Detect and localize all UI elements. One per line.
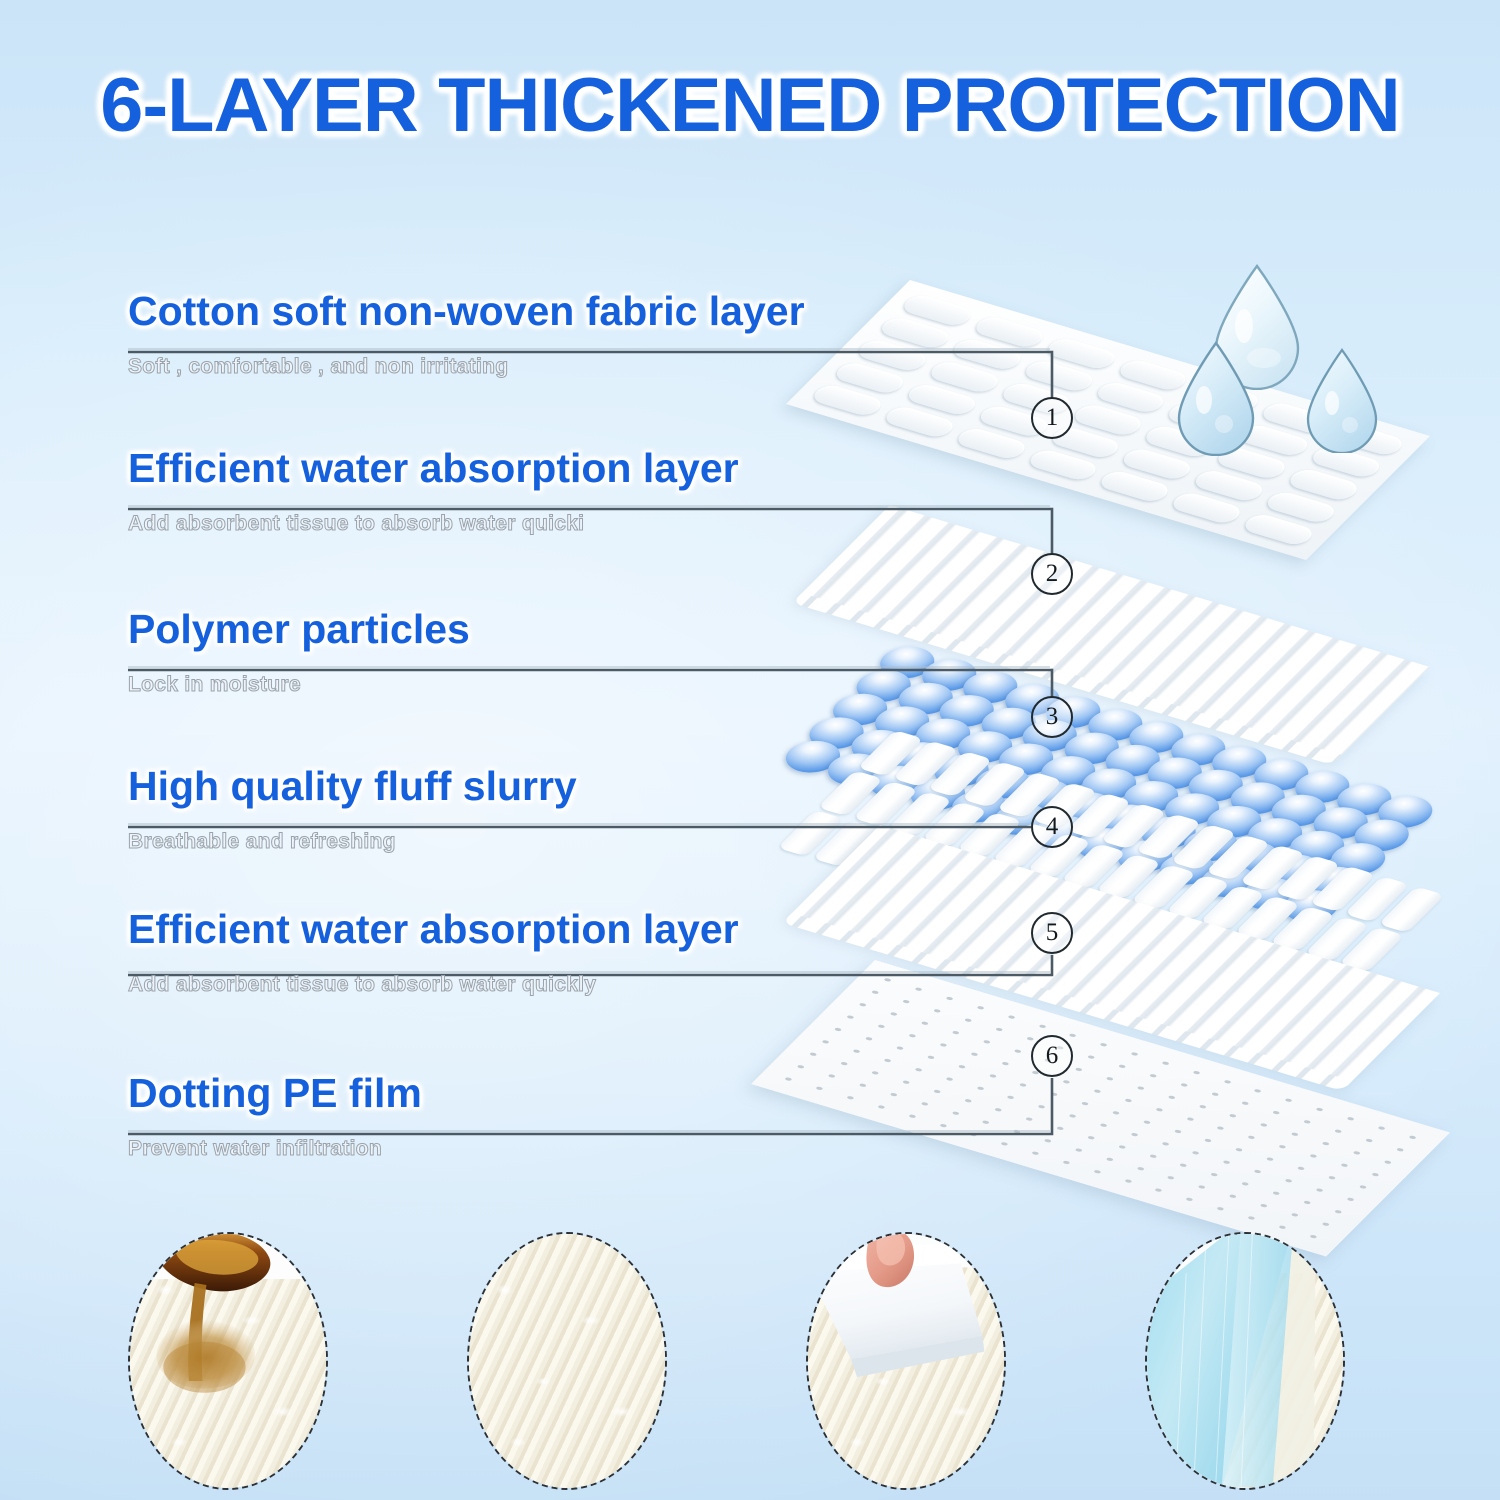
photo-fluff-pulp-closeup: [467, 1232, 667, 1490]
pe-film-dot: [1291, 1132, 1299, 1136]
pe-film-dot: [1124, 1098, 1132, 1102]
pe-film-dot: [1253, 1169, 1261, 1173]
pe-film-dot: [1038, 1105, 1046, 1109]
pe-film-dot: [1000, 1142, 1008, 1146]
layer-block-2: Efficient water absorption layer Add abs…: [128, 447, 739, 536]
pe-film-dot: [877, 1105, 885, 1109]
layer-subtitle: Lock in moisture: [128, 673, 470, 697]
layer-title: Polymer particles: [128, 608, 470, 651]
pe-film-dot: [1396, 1148, 1404, 1152]
pe-film-dot: [902, 1080, 910, 1084]
layer-block-4: High quality fluff slurry Breathable and…: [128, 765, 577, 854]
pe-film-dot: [1198, 1104, 1206, 1108]
layer-subtitle: Add absorbent tissue to absorb water qui…: [128, 512, 739, 536]
pe-film-dot: [1149, 1074, 1157, 1078]
pe-film-dot: [1112, 1111, 1120, 1115]
pe-film-dot: [1007, 1095, 1015, 1099]
pe-film-dot: [1235, 1148, 1243, 1152]
pe-film-dot: [939, 1043, 947, 1047]
pe-film-dot: [1210, 1173, 1218, 1177]
pe-film-dot: [1087, 1055, 1095, 1059]
pe-film-dot: [1371, 1172, 1379, 1176]
pe-film-dot: [871, 990, 879, 994]
pe-film-dot: [933, 1009, 941, 1013]
pe-film-dot: [1099, 1123, 1107, 1127]
pe-film-dot: [1383, 1160, 1391, 1164]
pe-film-dot: [889, 1092, 897, 1096]
pe-film-dot: [1026, 1037, 1034, 1041]
pe-film-dot: [1118, 1145, 1126, 1149]
pe-film-dot: [1247, 1216, 1255, 1220]
pe-film-dot: [1303, 1200, 1311, 1204]
pe-film-dot: [1365, 1138, 1373, 1142]
pe-film-dot: [951, 1111, 959, 1115]
layer-block-6: Dotting PE film Prevent water infiltrati…: [128, 1072, 422, 1161]
pe-film-dot: [1346, 1197, 1354, 1201]
pe-film-dot: [1241, 1101, 1249, 1105]
pe-film-dot: [1075, 1067, 1083, 1071]
pe-film-overlay: [1147, 1234, 1343, 1487]
pe-film-dot: [1062, 1080, 1070, 1084]
pe-film-dot: [815, 1086, 823, 1090]
pe-film-dot: [1315, 1188, 1323, 1192]
pe-film-dot: [1186, 1117, 1194, 1121]
pe-film-dot: [939, 1123, 947, 1127]
pe-film-dot: [785, 1077, 793, 1081]
page-title: 6-LAYER THICKENED PROTECTION: [0, 62, 1500, 149]
pe-film-dot: [822, 1040, 830, 1044]
pe-film-dot: [1352, 1151, 1360, 1155]
pe-film-dot: [964, 1099, 972, 1103]
pe-film-dot: [1136, 1166, 1144, 1170]
pe-film-dot: [1050, 1092, 1058, 1096]
pe-film-dot: [1315, 1107, 1323, 1111]
pe-film-dot: [920, 1102, 928, 1106]
pe-film-dot: [1334, 1129, 1342, 1133]
pe-film-dot: [1408, 1135, 1416, 1139]
pe-film-dot: [1272, 1111, 1280, 1115]
pe-film-dot: [1093, 1170, 1101, 1174]
pe-film-dot: [1087, 1136, 1095, 1140]
photo-finger-press-test: [806, 1232, 1006, 1490]
photo-pe-film-backing: [1145, 1232, 1345, 1490]
layer-title: Dotting PE film: [128, 1072, 422, 1115]
layer-title: Efficient water absorption layer: [128, 447, 739, 490]
pe-film-dot: [964, 1018, 972, 1022]
pe-film-dot: [1327, 1175, 1335, 1179]
pe-film-dot: [908, 1034, 916, 1038]
pe-film-dot: [1130, 1052, 1138, 1056]
pe-film-dot: [982, 1120, 990, 1124]
pe-film-dot: [884, 978, 892, 982]
pe-film-dot: [1229, 1194, 1237, 1198]
pe-film-dot: [945, 996, 953, 1000]
pe-film-dot: [1173, 1129, 1181, 1133]
pe-film-dot: [1142, 1120, 1150, 1124]
pe-film-dot: [865, 1037, 873, 1041]
pe-film-dot: [896, 1046, 904, 1050]
pe-film-dot: [1309, 1154, 1317, 1158]
pe-film-dot: [1161, 1142, 1169, 1146]
layer-subtitle: Soft , comfortable , and non irritating: [128, 355, 805, 379]
pe-film-dot: [1062, 1160, 1070, 1164]
liquid-pour-overlay: [130, 1234, 326, 1487]
pe-film-dot: [914, 1068, 922, 1072]
layer-marker-1: 1: [1031, 397, 1073, 439]
pe-film-dot: [1278, 1225, 1286, 1229]
pe-film-dot: [1358, 1185, 1366, 1189]
finger-press-overlay: [808, 1234, 1004, 1487]
pe-film-dot: [1013, 1049, 1021, 1053]
pe-film-dot: [1334, 1210, 1342, 1214]
pe-film-dot: [1192, 1151, 1200, 1155]
pe-film-dot: [945, 1077, 953, 1081]
pe-film-dot: [1211, 1092, 1219, 1096]
pe-film-dot: [1285, 1098, 1293, 1102]
pe-film-dot: [1081, 1101, 1089, 1105]
layer-block-1: Cotton soft non-woven fabric layer Soft …: [128, 290, 805, 379]
pe-film-dot: [1247, 1135, 1255, 1139]
water-droplet-small: [1298, 345, 1386, 453]
pe-film-dot: [1254, 1089, 1262, 1093]
layer-stack-illustration: [880, 250, 1500, 1200]
pe-film-dot: [1179, 1163, 1187, 1167]
layer-subtitle: Prevent water infiltration: [128, 1137, 422, 1161]
pe-film-dot: [1106, 1077, 1114, 1081]
layer-title: Cotton soft non-woven fabric layer: [128, 290, 805, 333]
pe-film-dot: [1161, 1061, 1169, 1065]
pe-film-dot: [988, 1074, 996, 1078]
pe-film-dot: [1229, 1114, 1237, 1118]
pe-film-dot: [1192, 1070, 1200, 1074]
product-photo-row: [0, 1232, 1500, 1500]
layer-marker-3: 3: [1031, 696, 1073, 738]
pe-film-dot: [1216, 1207, 1224, 1211]
pe-film-dot: [1025, 1117, 1033, 1121]
layer-title: Efficient water absorption layer: [128, 908, 739, 951]
pe-film-dot: [877, 1024, 885, 1028]
infographic-canvas: 6-LAYER THICKENED PROTECTION: [0, 0, 1500, 1500]
pe-film-dot: [1069, 1033, 1077, 1037]
pe-film-dot: [883, 1058, 891, 1062]
pe-film-dot: [1074, 1148, 1082, 1152]
pe-film-dot: [1260, 1123, 1268, 1127]
pe-film-dot: [1180, 1083, 1188, 1087]
pe-film-dot: [828, 1074, 836, 1078]
pe-film-dot: [1167, 1095, 1175, 1099]
pe-film-dot: [1198, 1185, 1206, 1189]
pe-film-dot: [1185, 1197, 1193, 1201]
pe-film-dot: [1093, 1089, 1101, 1093]
water-droplet-medium: [1168, 338, 1264, 456]
pe-film-dot: [995, 1027, 1003, 1031]
pe-film-dot: [976, 1086, 984, 1090]
layer-subtitle: Breathable and refreshing: [128, 830, 577, 854]
pe-film-dot: [1124, 1179, 1132, 1183]
pe-film-dot: [933, 1089, 941, 1093]
layer-block-5: Efficient water absorption layer Add abs…: [128, 908, 739, 997]
pe-film-dot: [1217, 1126, 1225, 1130]
pe-film-dot: [859, 1003, 867, 1007]
pe-film-dot: [957, 1064, 965, 1068]
pe-film-dot: [797, 1065, 805, 1069]
pe-film-dot: [1056, 1126, 1064, 1130]
pe-film-dot: [1377, 1126, 1385, 1130]
pe-film-dot: [1241, 1182, 1249, 1186]
pe-film-dot: [1259, 1203, 1267, 1207]
pe-film-dot: [871, 1071, 879, 1075]
pe-film-dot: [1297, 1166, 1305, 1170]
pe-film-dot: [1068, 1114, 1076, 1118]
pe-film-dot: [1266, 1157, 1274, 1161]
pe-film-dot: [902, 1000, 910, 1004]
pe-film-dot: [1155, 1188, 1163, 1192]
pe-film-dot: [1136, 1086, 1144, 1090]
pe-film-dot: [970, 1052, 978, 1056]
layer-marker-2: 2: [1031, 553, 1073, 595]
layer-title: High quality fluff slurry: [128, 765, 577, 808]
pe-film-dot: [1001, 1061, 1009, 1065]
pe-film-dot: [1155, 1108, 1163, 1112]
pe-film-dot: [1007, 1015, 1015, 1019]
layer-marker-6: 6: [1031, 1035, 1073, 1077]
pe-film-dot: [1031, 1151, 1039, 1155]
pe-film-dot: [890, 1012, 898, 1016]
pe-film-dot: [1284, 1179, 1292, 1183]
pe-film-dot: [1346, 1117, 1354, 1121]
pe-film-dot: [1130, 1132, 1138, 1136]
pe-film-dot: [1278, 1145, 1286, 1149]
layer-marker-4: 4: [1031, 806, 1073, 848]
pe-film-dot: [908, 1114, 916, 1118]
pe-film-dot: [1223, 1080, 1231, 1084]
pe-film-dot: [840, 1062, 848, 1066]
pe-film-dot: [853, 1049, 861, 1053]
pe-film-dot: [1303, 1120, 1311, 1124]
pe-film-dot: [1340, 1163, 1348, 1167]
pe-film-dot: [982, 1040, 990, 1044]
pe-film-dot: [1149, 1154, 1157, 1158]
pe-film-dot: [1290, 1213, 1298, 1217]
pe-film-dot: [1118, 1064, 1126, 1068]
pe-film-dot: [1167, 1176, 1175, 1180]
photo-liquid-absorption-test: [128, 1232, 328, 1490]
pe-film-dot: [1019, 1083, 1027, 1087]
pe-film-dot: [927, 1055, 935, 1059]
pe-film-dot: [1321, 1222, 1329, 1226]
pe-film-dot: [1100, 1043, 1108, 1047]
pe-film-dot: [1321, 1141, 1329, 1145]
pe-film-dot: [1223, 1160, 1231, 1164]
pe-film-dot: [1105, 1157, 1113, 1161]
pe-film-dot: [859, 1083, 867, 1087]
layer-marker-5: 5: [1031, 912, 1073, 954]
pe-film-dot: [970, 1133, 978, 1137]
layer-subtitle: Add absorbent tissue to absorb water qui…: [128, 973, 739, 997]
pe-film-dot: [809, 1052, 817, 1056]
pe-film-dot: [915, 987, 923, 991]
pe-film-dot: [1038, 1024, 1046, 1028]
pe-film-dot: [951, 1030, 959, 1034]
pe-film-dot: [834, 1027, 842, 1031]
pe-film-dot: [847, 1015, 855, 1019]
pe-film-dot: [921, 1021, 929, 1025]
pe-film-dot: [1013, 1129, 1021, 1133]
pe-film-dot: [976, 1006, 984, 1010]
pe-film-dot: [1272, 1191, 1280, 1195]
pe-film-dot: [1044, 1139, 1052, 1143]
pe-film-dot: [846, 1096, 854, 1100]
layer-block-3: Polymer particles Lock in moisture: [128, 608, 470, 697]
pe-film-dot: [994, 1108, 1002, 1112]
pe-film-dot: [1204, 1138, 1212, 1142]
